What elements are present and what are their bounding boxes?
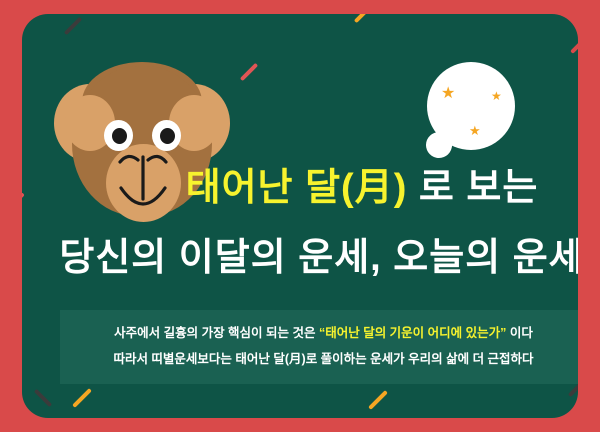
title-line-1: 태어난 달(月) 로 보는 xyxy=(22,156,578,211)
desc-1-quote: “태어난 달의 기운이 어디에 있는가” xyxy=(319,326,506,340)
description-line-1: 사주에서 길흉의 가장 핵심이 되는 것은 “태어난 달의 기운이 어디에 있는… xyxy=(60,322,578,341)
fortune-banner: ★ ★ ★ 태어난 달(月) 로 보는 당신의 이달의 운세, 오늘의 운세 사… xyxy=(0,0,600,432)
description-line-2: 따라서 띠별운세보다는 태어난 달(月)로 풀이하는 운세가 우리의 삶에 더 … xyxy=(60,348,578,367)
dash-orange-bottom-l xyxy=(72,388,92,408)
desc-1-suffix: 이다 xyxy=(506,326,532,340)
dash-orange-bottom-m xyxy=(368,390,388,410)
speech-bubble-icon: ★ ★ ★ xyxy=(427,62,515,150)
dash-orange-top xyxy=(354,14,372,23)
green-board: ★ ★ ★ 태어난 달(月) 로 보는 당신의 이달의 운세, 오늘의 운세 사… xyxy=(22,14,578,418)
monkey-face-icon xyxy=(52,62,232,247)
title-highlight: 태어난 달(月) xyxy=(186,167,408,209)
dash-dark-top-left xyxy=(64,17,82,35)
title-line-2: 당신의 이달의 운세, 오늘의 운세 xyxy=(22,226,578,281)
title-rest: 로 보는 xyxy=(407,167,538,209)
star-icon: ★ xyxy=(469,124,481,137)
monkey-pupil-right xyxy=(160,128,175,144)
star-icon: ★ xyxy=(491,90,502,102)
dash-red-right-top xyxy=(570,34,578,54)
star-icon: ★ xyxy=(441,86,455,102)
description-panel: 사주에서 길흉의 가장 핵심이 되는 것은 “태어난 달의 기운이 어디에 있는… xyxy=(60,310,578,384)
monkey-pupil-left xyxy=(112,128,127,144)
desc-1-prefix: 사주에서 길흉의 가장 핵심이 되는 것은 xyxy=(114,326,319,340)
dash-red-top-mid xyxy=(240,63,258,81)
dash-dark-bottom-left xyxy=(34,389,52,407)
